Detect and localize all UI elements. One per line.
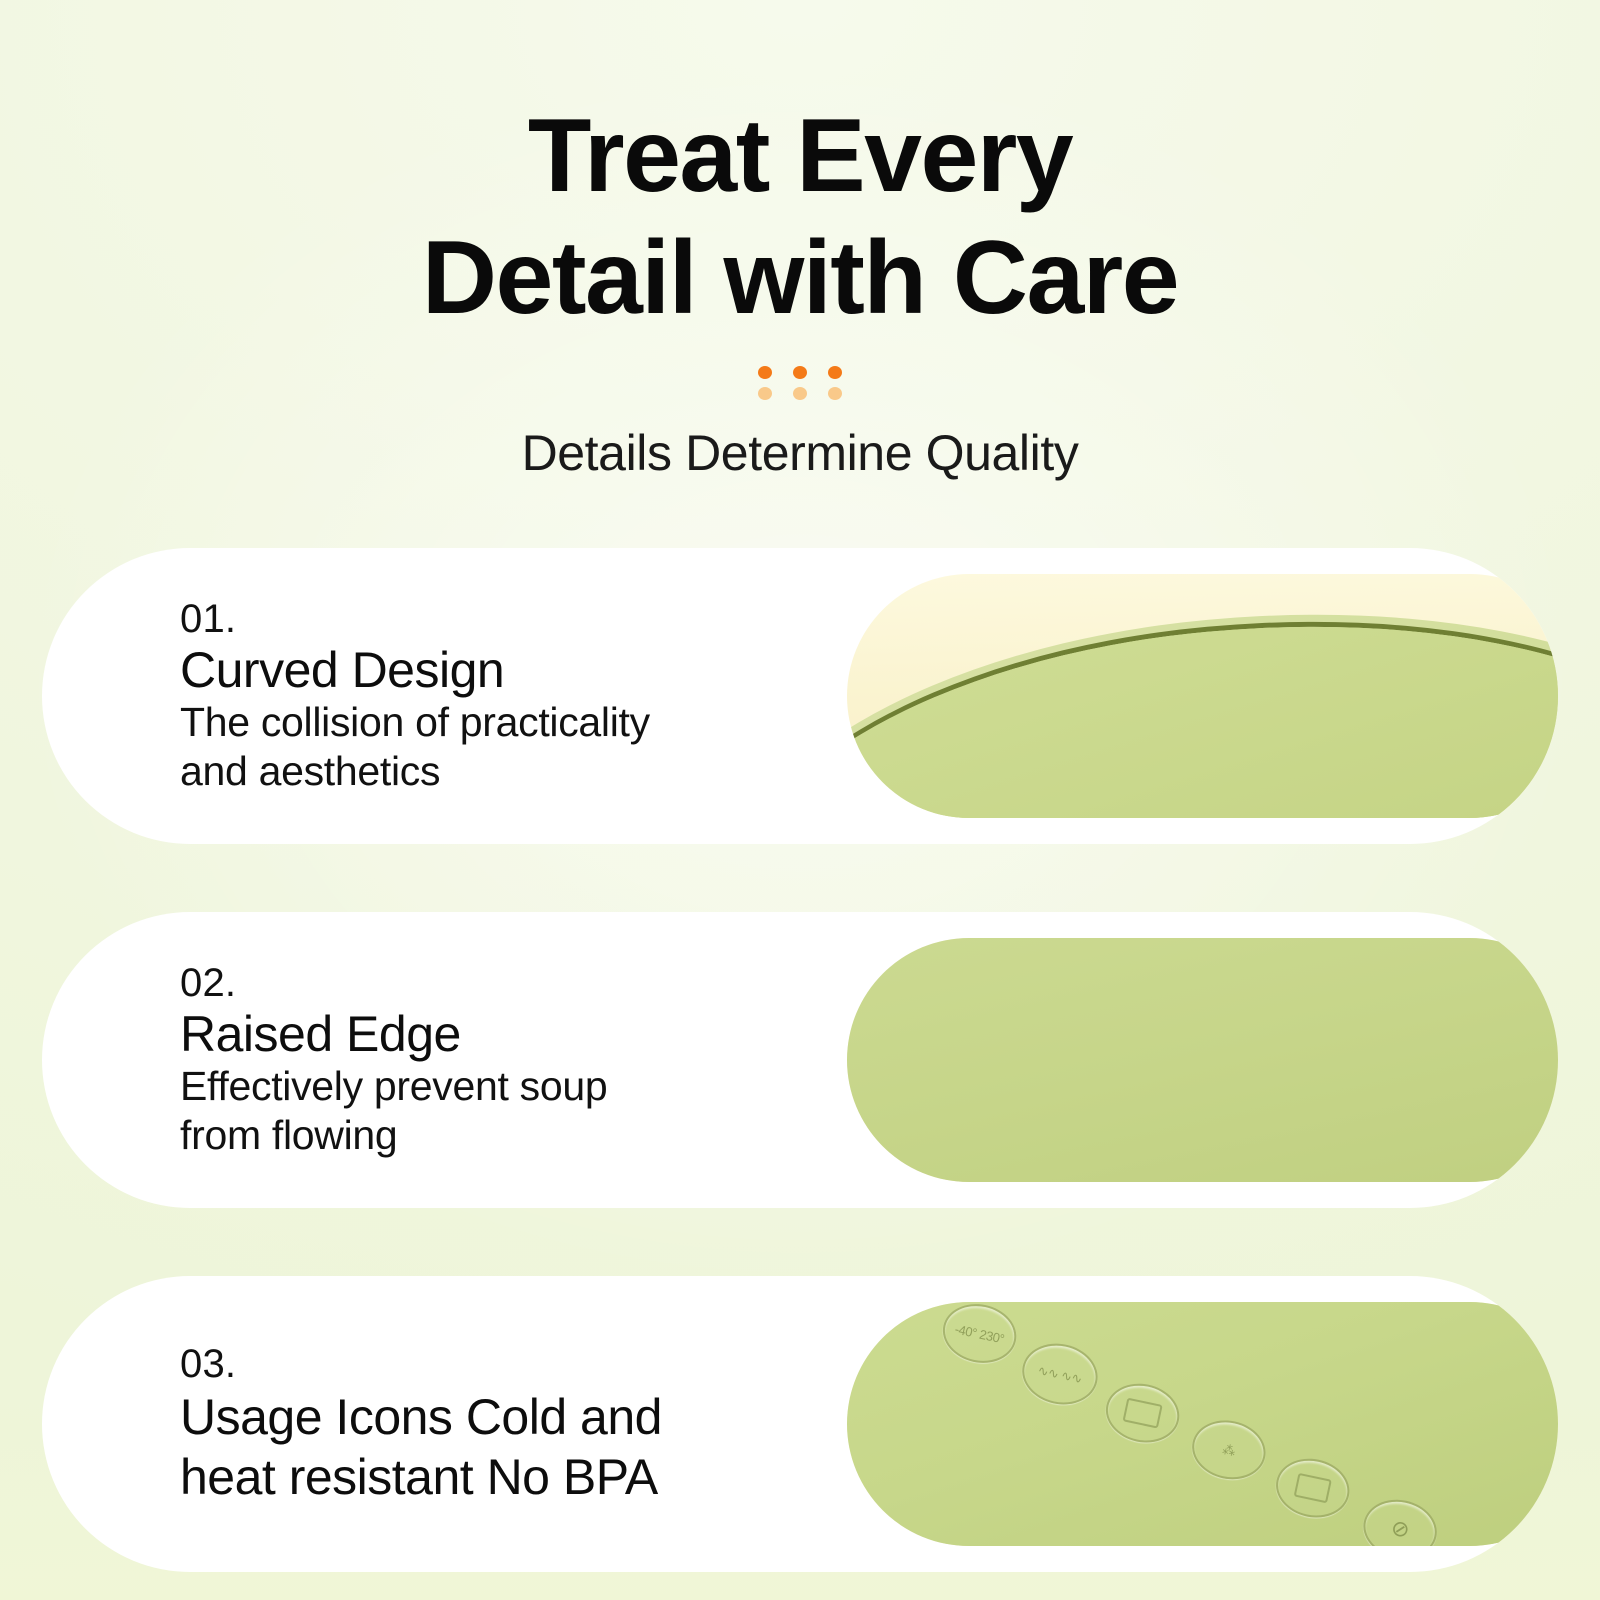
dot-faded-1 [758, 387, 772, 400]
microwave-safe-icon-glyph: ∿∿ ∿∿ [1037, 1363, 1083, 1385]
infographic-page: Treat Every Detail with Care Details Det… [0, 0, 1600, 1600]
dot-faded-3 [828, 387, 842, 400]
feature-card-1-text: 01. Curved Design The collision of pract… [42, 597, 702, 796]
feature-card-2-text: 02. Raised Edge Effectively prevent soup… [42, 961, 702, 1160]
freezer-safe-icon-glyph [1294, 1473, 1332, 1504]
dot-strong-1 [758, 366, 772, 379]
dishwasher-safe-icon: ⁂ [1187, 1414, 1271, 1486]
raised-edge-mat-photo [847, 938, 1558, 1182]
page-subtitle: Details Determine Quality [0, 424, 1600, 482]
temperature-range-icon: -40° 230° [937, 1302, 1021, 1370]
bpa-free-icon-glyph: ⊘ [1389, 1517, 1411, 1542]
curved-mat-photo [847, 574, 1558, 818]
dishwasher-safe-icon-glyph: ⁂ [1221, 1443, 1236, 1458]
feature-card-3: 03. Usage Icons Cold and heat resistant … [42, 1276, 1558, 1572]
feature-card-1-description: The collision of practicality and aesthe… [180, 698, 702, 796]
decorative-dots [754, 365, 846, 400]
bpa-free-icon: ⊘ [1358, 1493, 1442, 1546]
mat-surface [847, 938, 1558, 1182]
temperature-range-icon-glyph: -40° 230° [954, 1322, 1006, 1345]
dot-faded-2 [793, 387, 807, 400]
feature-card-2-title: Raised Edge [180, 1006, 702, 1062]
oven-safe-icon [1100, 1377, 1184, 1449]
feature-card-2-description: Effectively prevent soup from flowing [180, 1062, 702, 1160]
feature-card-3-number: 03. [180, 1342, 702, 1387]
feature-card-2-number: 02. [180, 961, 702, 1006]
freezer-safe-icon [1271, 1452, 1355, 1524]
feature-card-1-number: 01. [180, 597, 702, 642]
headline-line-2: Detail with Care [0, 218, 1600, 340]
feature-card-3-title: Usage Icons Cold and heat resistant No B… [180, 1387, 702, 1507]
microwave-safe-icon: ∿∿ ∿∿ [1017, 1337, 1104, 1411]
header: Treat Every Detail with Care Details Det… [0, 0, 1600, 482]
dot-strong-2 [793, 366, 807, 379]
usage-icons-mat-photo: -40° 230° ∿∿ ∿∿ ⁂ ⊘ [847, 1302, 1558, 1546]
dot-strong-3 [828, 366, 842, 379]
feature-card-1-title: Curved Design [180, 642, 702, 698]
feature-card-3-text: 03. Usage Icons Cold and heat resistant … [42, 1342, 702, 1507]
oven-safe-icon-glyph [1123, 1398, 1163, 1429]
feature-card-list: 01. Curved Design The collision of pract… [0, 548, 1600, 1572]
headline-line-1: Treat Every [0, 96, 1600, 218]
feature-card-2: 02. Raised Edge Effectively prevent soup… [42, 912, 1558, 1208]
page-title: Treat Every Detail with Care [0, 96, 1600, 339]
feature-card-1: 01. Curved Design The collision of pract… [42, 548, 1558, 844]
